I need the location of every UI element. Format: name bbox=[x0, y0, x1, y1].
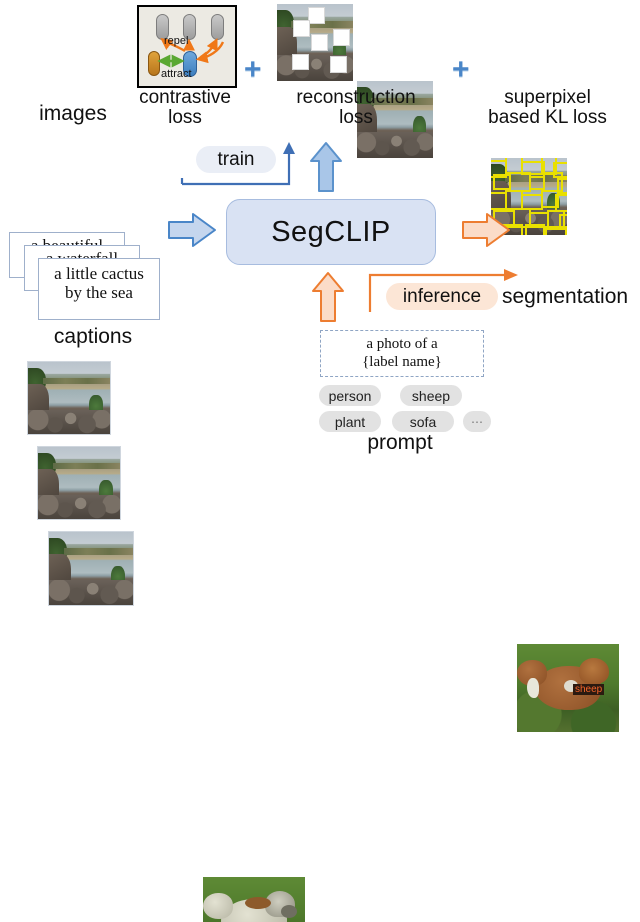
input-image-2 bbox=[37, 446, 121, 520]
superpixel-loss-caption-line1: superpixel bbox=[455, 88, 640, 108]
segclip-model-label: SegCLIP bbox=[271, 216, 391, 249]
mask-patch bbox=[308, 7, 325, 24]
caption-card-3: a little cactus by the sea bbox=[38, 258, 160, 320]
prompt-tag-more[interactable]: ⋯ bbox=[463, 411, 491, 432]
input-image-1 bbox=[48, 531, 134, 606]
prompt-label: prompt bbox=[340, 432, 460, 454]
arrow-up-blue-icon bbox=[310, 141, 344, 193]
contrastive-loss-caption-line1: contrastive bbox=[125, 88, 245, 108]
segmented-sheep-ear bbox=[527, 678, 539, 698]
prompt-tag-sheep[interactable]: sheep bbox=[400, 385, 462, 406]
sheep-brown-patch bbox=[245, 897, 271, 909]
arrow-right-orange-icon bbox=[461, 212, 513, 248]
prompt-tag-person[interactable]: person bbox=[319, 385, 381, 406]
input-image-3 bbox=[27, 361, 111, 435]
arrow-up-orange-icon bbox=[312, 271, 346, 323]
mask-patch bbox=[292, 54, 309, 70]
train-pill: train bbox=[196, 146, 276, 173]
segmented-sheep-head bbox=[579, 658, 609, 684]
captions-label: captions bbox=[28, 326, 158, 348]
mask-patch bbox=[333, 29, 350, 46]
arrow-right-blue-icon bbox=[167, 212, 219, 248]
contrastive-loss-caption-line2: loss bbox=[125, 108, 245, 128]
reconstruction-loss-caption-line2: loss bbox=[275, 108, 437, 128]
mask-patch bbox=[311, 34, 328, 51]
contrastive-attract-label: attract bbox=[161, 68, 192, 80]
prompt-template-line2: {label name} bbox=[362, 354, 442, 371]
inference-pill-label: inference bbox=[403, 286, 481, 308]
train-pill-label: train bbox=[218, 149, 255, 171]
plus-icon-2: + bbox=[452, 55, 470, 85]
segclip-model-box[interactable]: SegCLIP bbox=[226, 199, 436, 265]
superpixel-loss-caption-line2: based KL loss bbox=[455, 108, 640, 128]
sheep-muzzle bbox=[281, 905, 297, 918]
reconstruction-masked-image bbox=[277, 4, 353, 81]
reconstruction-loss-caption: reconstruction loss bbox=[275, 88, 437, 128]
prompt-template-box[interactable]: a photo of a {label name} bbox=[320, 330, 484, 377]
contrastive-repel-label: repel bbox=[164, 35, 188, 47]
mask-patch bbox=[293, 20, 310, 37]
prompt-template-text: a photo of a {label name} bbox=[362, 336, 442, 371]
segmentation-mask-label: sheep bbox=[573, 684, 604, 695]
images-label: images bbox=[18, 103, 128, 125]
prompt-tag-sofa[interactable]: sofa bbox=[392, 411, 454, 432]
segmentation-output-image: sheep bbox=[517, 644, 619, 732]
inference-pill: inference bbox=[386, 283, 498, 310]
prompt-tag-sofa-label: sofa bbox=[410, 414, 436, 430]
superpixel-loss-caption: superpixel based KL loss bbox=[455, 88, 640, 128]
prompt-tag-plant-label: plant bbox=[335, 414, 365, 430]
segmentation-label: segmentation bbox=[502, 285, 628, 309]
contrastive-loss-figure: repel attract bbox=[137, 5, 237, 88]
prompt-tag-person-label: person bbox=[329, 388, 372, 404]
prompt-template-line1: a photo of a bbox=[362, 336, 442, 353]
reconstruction-loss-caption-line1: reconstruction bbox=[275, 88, 437, 108]
prompt-tag-sheep-label: sheep bbox=[412, 388, 450, 404]
sheep-back-body bbox=[203, 893, 233, 919]
prompt-tag-plant[interactable]: plant bbox=[319, 411, 381, 432]
caption-card-3-text: a little cactus by the sea bbox=[39, 259, 159, 302]
contrastive-loss-caption: contrastive loss bbox=[125, 88, 245, 128]
prompt-tag-more-label: ⋯ bbox=[471, 415, 483, 429]
prompt-input-image bbox=[203, 877, 305, 922]
mask-patch bbox=[330, 56, 347, 73]
plus-icon-1: + bbox=[244, 55, 262, 85]
